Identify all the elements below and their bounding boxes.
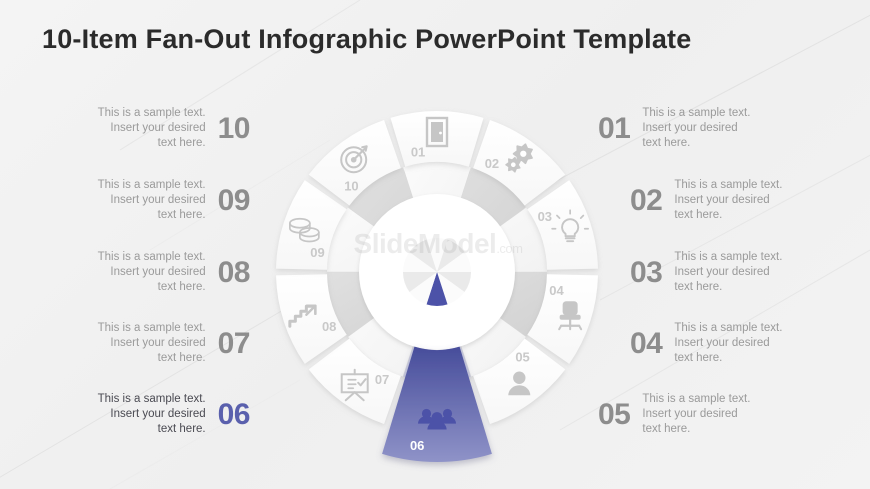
item-text-07: This is a sample text. Insert your desir…: [28, 321, 206, 366]
wedge-label-05: 05: [515, 350, 529, 365]
item-row-06[interactable]: This is a sample text. Insert your desir…: [60, 392, 250, 437]
item-row-04[interactable]: 04This is a sample text. Insert your des…: [630, 321, 782, 366]
wedge-label-09: 09: [310, 245, 324, 260]
item-text-03: This is a sample text. Insert your desir…: [674, 250, 782, 295]
item-number-04: 04: [630, 329, 662, 359]
item-row-07[interactable]: This is a sample text. Insert your desir…: [28, 321, 250, 366]
item-text-10: This is a sample text. Insert your desir…: [60, 106, 206, 151]
item-row-05[interactable]: 05This is a sample text. Insert your des…: [598, 392, 750, 437]
item-number-02: 02: [630, 186, 662, 216]
item-text-05: This is a sample text. Insert your desir…: [642, 392, 750, 437]
item-number-08: 08: [218, 258, 250, 288]
item-number-05: 05: [598, 400, 630, 430]
item-number-03: 03: [630, 258, 662, 288]
item-number-07: 07: [218, 329, 250, 359]
item-number-10: 10: [218, 114, 250, 144]
item-text-06: This is a sample text. Insert your desir…: [60, 392, 206, 437]
item-text-04: This is a sample text. Insert your desir…: [674, 321, 782, 366]
item-row-02[interactable]: 02This is a sample text. Insert your des…: [630, 178, 782, 223]
item-text-08: This is a sample text. Insert your desir…: [28, 250, 206, 295]
wedge-label-01: 01: [411, 144, 425, 159]
item-text-09: This is a sample text. Insert your desir…: [28, 178, 206, 223]
wedge-label-10: 10: [344, 178, 358, 193]
wheel-hub-pie: [403, 238, 471, 306]
item-number-06: 06: [218, 400, 250, 430]
item-row-08[interactable]: This is a sample text. Insert your desir…: [28, 250, 250, 295]
wedge-label-07: 07: [375, 372, 389, 387]
item-number-01: 01: [598, 114, 630, 144]
item-row-01[interactable]: 01This is a sample text. Insert your des…: [598, 106, 750, 151]
left-item-column: This is a sample text. Insert your desir…: [0, 0, 300, 489]
wedge-label-08: 08: [322, 319, 336, 334]
item-row-03[interactable]: 03This is a sample text. Insert your des…: [630, 250, 782, 295]
wedge-label-03: 03: [538, 209, 552, 224]
item-text-02: This is a sample text. Insert your desir…: [674, 178, 782, 223]
item-row-09[interactable]: This is a sample text. Insert your desir…: [28, 178, 250, 223]
wedge-label-04: 04: [549, 283, 564, 298]
right-item-column: 01This is a sample text. Insert your des…: [570, 0, 870, 489]
item-row-10[interactable]: This is a sample text. Insert your desir…: [60, 106, 250, 151]
wedge-label-06: 06: [410, 438, 424, 453]
item-text-01: This is a sample text. Insert your desir…: [642, 106, 750, 151]
item-number-09: 09: [218, 186, 250, 216]
wedge-label-02: 02: [485, 156, 499, 171]
slide-canvas: 10-Item Fan-Out Infographic PowerPoint T…: [0, 0, 870, 489]
